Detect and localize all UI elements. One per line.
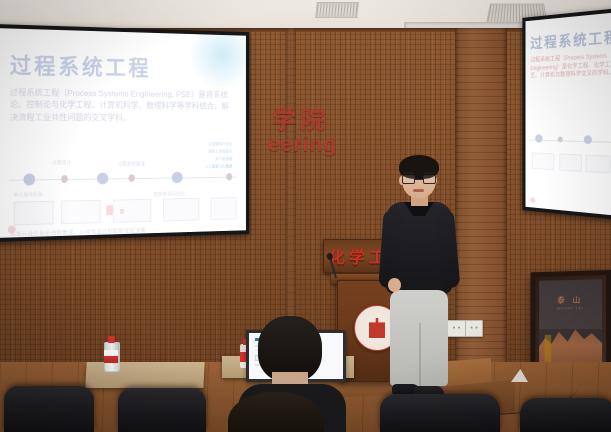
slide-right: 过程系统工程 过程系统工程（Process Systems Engineerin… [526,12,611,215]
ceiling-vent-icon [315,2,359,18]
water-bottle [104,334,118,370]
projector-glare [187,28,246,88]
diagram-label: 过程设计 [52,159,71,166]
auditorium-seat [380,394,500,432]
artwork-subtitle: MOUNT TAI [557,306,584,310]
wall-mural-chinese: 学院 [272,100,330,135]
diagram-label: 单元操作阶段 [13,191,42,198]
speaker-hand [388,278,401,292]
slide-left: 过程系统工程 过程系统工程（Process Systems Engineerin… [0,28,246,238]
diagram-legend-item: 多尺度建模 [215,156,232,162]
slide-title-left: 过程系统工程 [10,48,151,82]
slide-body-left: 过程系统工程（Process Systems Engineering, PSE）… [10,86,234,123]
auditorium-seat [4,386,94,432]
speaker-brow [424,172,435,174]
speaker-trousers [390,290,448,386]
slide-logo [530,197,535,203]
diagram-label: 智能制造与优化 [154,191,185,198]
diagram-legend-item: 流程工业智能化 [208,149,232,155]
projection-screen-right: 过程系统工程 过程系统工程（Process Systems Engineerin… [522,8,611,220]
wood-panel-column [455,28,507,370]
slide-body-right: 过程系统工程（Process Systems Engineering）是化学工程… [530,52,611,81]
wall-mural-english: eering [268,133,337,157]
diagram-label: 过程系统集成 [117,161,144,168]
slide-diagram-left: 单元操作阶段 过程设计 过程系统集成 智能制造与优化 过程模拟与优化 流程工业智… [9,140,237,230]
diagram-legend-item: 过程模拟与优化 [208,141,232,147]
speaker-figure [380,158,458,404]
speaker-brow [403,172,414,174]
auditorium-seat [118,388,206,432]
artwork-title: 泰 山 [557,294,583,305]
auditorium-seat [520,398,611,432]
slide-title-right: 过程系统工程 [530,26,611,53]
glasses-icon [402,175,436,184]
lecture-hall-photo: 学院 eering 过程系统工程 过程系统工程（Process Systems … [0,0,611,432]
projection-screen-left: 过程系统工程 过程系统工程（Process Systems Engineerin… [0,24,249,242]
diagram-legend-item: 人工智能与大数据 [205,164,233,170]
speaker-mouth [413,189,424,192]
